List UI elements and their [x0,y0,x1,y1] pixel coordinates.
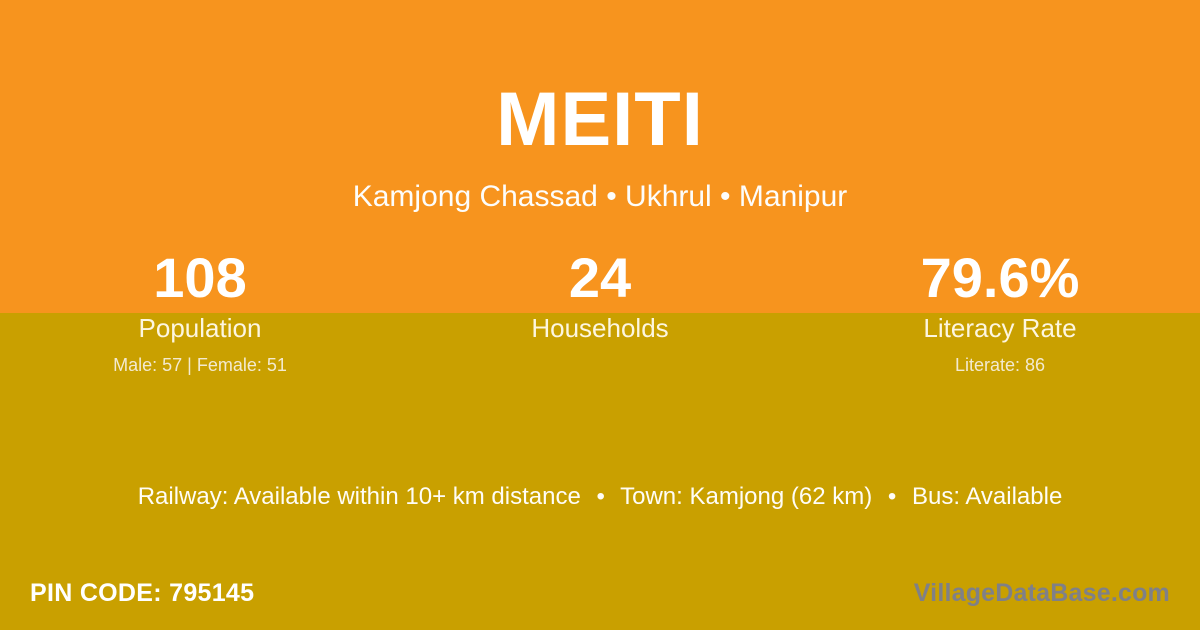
stat-literacy-sub: Literate: 86 [800,356,1200,374]
stat-households-value: 24 [400,243,800,313]
pin-code-label: PIN CODE: 795145 [30,581,254,606]
infra-town: Town: Kamjong (62 km) [620,483,872,510]
stat-population: 108 Population Male: 57 | Female: 51 [0,243,400,374]
stat-households-label: Households [400,315,800,341]
stat-population-label: Population [0,315,400,341]
stat-households: 24 Households [400,243,800,374]
infra-railway: Railway: Available within 10+ km distanc… [138,483,581,510]
village-info-card: MEITI Kamjong Chassad • Ukhrul • Manipur… [0,0,1200,630]
stat-literacy: 79.6% Literacy Rate Literate: 86 [800,243,1200,374]
card-footer: PIN CODE: 795145 VillageDataBase.com [0,573,1200,613]
stat-population-sub: Male: 57 | Female: 51 [0,356,400,374]
stats-row: 108 Population Male: 57 | Female: 51 24 … [0,243,1200,374]
infrastructure-line: Railway: Available within 10+ km distanc… [0,485,1200,509]
breadcrumb: Kamjong Chassad • Ukhrul • Manipur [0,182,1200,212]
site-logo: VillageDataBase.com [914,581,1170,606]
card-header: MEITI Kamjong Chassad • Ukhrul • Manipur [0,0,1200,212]
stat-households-sub [400,356,800,374]
infra-bus: Bus: Available [912,483,1062,510]
stat-literacy-label: Literacy Rate [800,315,1200,341]
infra-separator-1: • [587,483,613,510]
infra-separator-2: • [879,483,905,510]
page-title: MEITI [0,82,1200,158]
stat-population-value: 108 [0,243,400,313]
stat-literacy-value: 79.6% [800,243,1200,313]
